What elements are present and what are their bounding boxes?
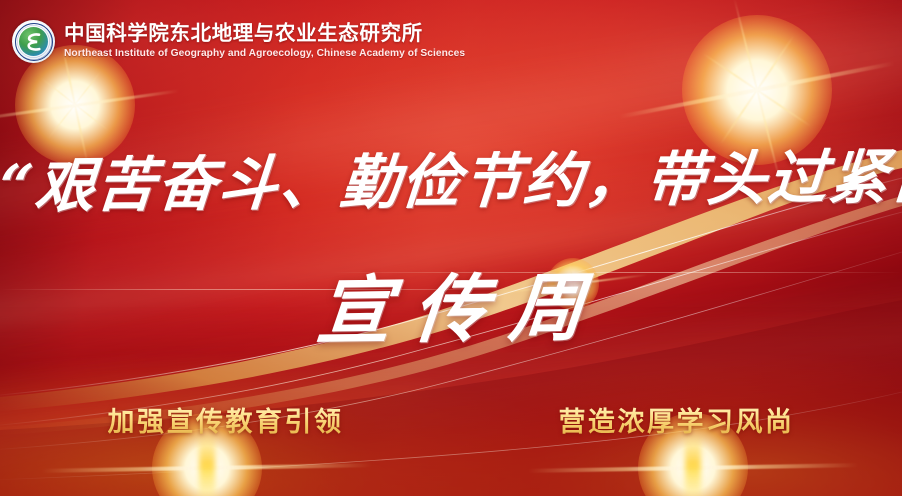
- institute-name-cn: 中国科学院东北地理与农业生态研究所: [64, 24, 465, 45]
- main-title-subject: 宣传周: [0, 244, 902, 364]
- institute-name-block: 中国科学院东北地理与农业生态研究所 Northeast Institute of…: [64, 24, 465, 59]
- institute-header: 中国科学院东北地理与农业生态研究所 Northeast Institute of…: [12, 20, 465, 63]
- institute-globe-emblem-icon: [12, 20, 55, 63]
- slogan-row: 加强宣传教育引领 营造浓厚学习风尚: [0, 400, 902, 439]
- main-title-quote: “艰苦奋斗、勤俭节约，带头过紧日子”: [0, 129, 902, 223]
- institute-name-en: Northeast Institute of Geography and Agr…: [64, 49, 465, 59]
- logo-s-curve-glyph: [25, 32, 42, 51]
- poster-canvas: 中国科学院东北地理与农业生态研究所 Northeast Institute of…: [0, 0, 902, 496]
- slogan-right: 营造浓厚学习风尚: [559, 400, 795, 439]
- slogan-left: 加强宣传教育引领: [108, 400, 344, 439]
